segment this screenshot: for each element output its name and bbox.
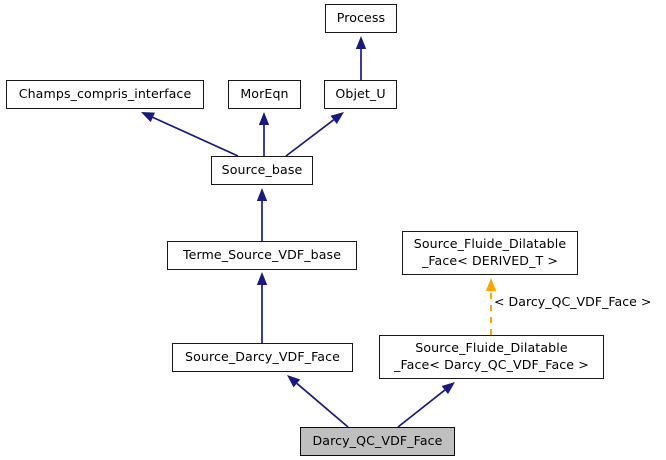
edge-terme-to-source_base xyxy=(257,188,267,241)
class-node-source_fluide_dilatable_face_darcy_qc_vdf_face[interactable]: Source_Fluide_Dilatable _Face< Darcy_QC_… xyxy=(379,335,604,379)
edge-darcy-to-source_darcy xyxy=(287,375,348,427)
class-node-moreqn[interactable]: MorEqn xyxy=(228,80,301,109)
edge-source_base-to-champs xyxy=(141,112,238,156)
class-node-source_darcy_vdf_face[interactable]: Source_Darcy_VDF_Face xyxy=(172,343,353,372)
class-node-source_base[interactable]: Source_base xyxy=(211,156,313,185)
edge-layer xyxy=(0,0,666,460)
class-node-source_fluide_dilatable_face_derived_t[interactable]: Source_Fluide_Dilatable _Face< DERIVED_T… xyxy=(402,231,578,275)
edge-label-template-param-label: < Darcy_QC_VDF_Face > xyxy=(494,294,651,309)
arrowhead-icon xyxy=(442,382,455,394)
edge-darcy-to-sfd_darcy xyxy=(398,382,455,427)
arrowhead-icon xyxy=(486,278,496,291)
edge-line xyxy=(398,390,445,427)
class-node-darcy_qc_vdf_face[interactable]: Darcy_QC_VDF_Face xyxy=(300,427,455,456)
class-node-process[interactable]: Process xyxy=(325,4,397,33)
arrowhead-icon xyxy=(259,112,269,125)
arrowhead-icon xyxy=(287,375,300,387)
arrowhead-icon xyxy=(257,272,267,285)
edge-line xyxy=(297,383,348,427)
edge-line xyxy=(153,117,238,156)
arrowhead-icon xyxy=(257,188,267,201)
arrowhead-icon xyxy=(331,112,344,124)
edge-line xyxy=(286,120,334,156)
class-node-objet_u[interactable]: Objet_U xyxy=(324,80,397,109)
edge-objet_u-to-process xyxy=(356,36,366,80)
arrowhead-icon xyxy=(356,36,366,49)
class-node-champs_compris_interface[interactable]: Champs_compris_interface xyxy=(6,80,204,109)
arrowhead-icon xyxy=(141,112,155,122)
inheritance-diagram: ProcessChamps_compris_interfaceMorEqnObj… xyxy=(0,0,666,460)
edge-source_base-to-objet_u xyxy=(286,112,344,156)
class-node-terme_source_vdf_base[interactable]: Terme_Source_VDF_base xyxy=(167,241,357,270)
edge-source_base-to-moreqn xyxy=(259,112,269,156)
edge-source_darcy-to-terme xyxy=(257,272,267,343)
